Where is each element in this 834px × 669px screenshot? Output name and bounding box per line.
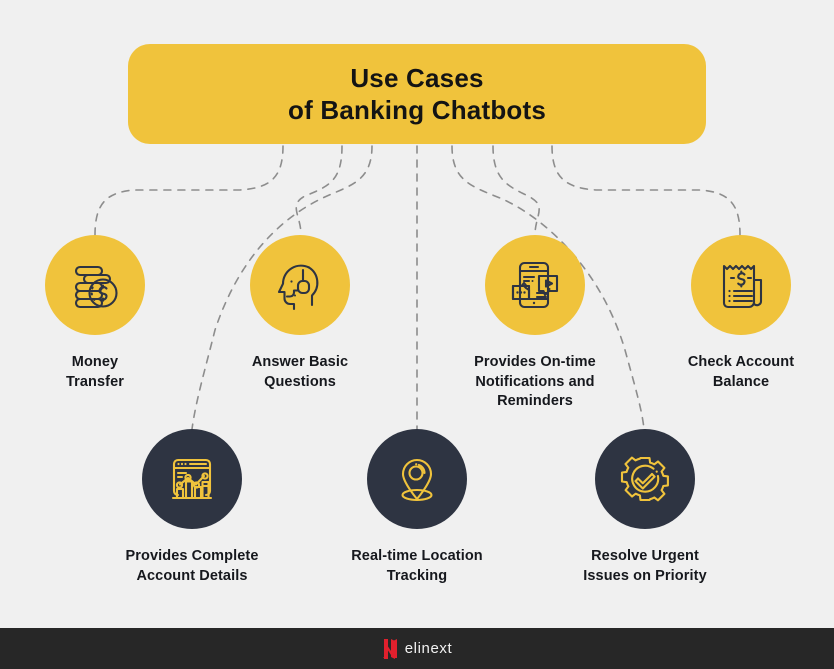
node-on-time-notifications[interactable]: Provides On-time Notifications and Remin… — [455, 235, 615, 412]
node-label-check-balance: Check Account Balance — [688, 353, 794, 392]
node-account-details[interactable]: Provides Complete Account Details — [117, 429, 267, 586]
elinext-n-mark-icon — [382, 638, 398, 660]
receipt-dollar-icon — [714, 258, 768, 312]
infographic-canvas: Use Cases of Banking Chatbots Money Tran… — [0, 0, 834, 669]
footer-bar: elinext — [0, 628, 834, 669]
node-label-money-transfer: Money Transfer — [66, 353, 124, 392]
icon-bubble-check-balance — [691, 235, 791, 335]
map-pin-icon — [389, 451, 445, 507]
icon-bubble-location-tracking — [367, 429, 467, 529]
node-resolve-urgent-issues[interactable]: Resolve Urgent Issues on Priority — [569, 429, 721, 586]
connector-money — [95, 146, 283, 235]
node-label-notifications: Provides On-time Notifications and Remin… — [474, 353, 596, 412]
footer-logo-text: elinext — [405, 640, 453, 657]
title-line-1: Use Cases — [288, 62, 546, 95]
analytics-dashboard-icon — [164, 451, 220, 507]
node-label-answer-basic: Answer Basic Questions — [252, 353, 348, 392]
node-check-account-balance[interactable]: Check Account Balance — [665, 235, 817, 392]
phone-chat-media-icon — [507, 257, 563, 313]
gear-check-icon — [617, 451, 673, 507]
node-answer-basic-questions[interactable]: Answer Basic Questions — [225, 235, 375, 392]
connector-answer — [296, 146, 342, 235]
coins-dollar-icon — [67, 257, 123, 313]
icon-bubble-money-transfer — [45, 235, 145, 335]
node-money-transfer[interactable]: Money Transfer — [20, 235, 170, 392]
node-label-account-details: Provides Complete Account Details — [125, 547, 258, 586]
icon-bubble-answer-basic — [250, 235, 350, 335]
connector-balance — [552, 146, 740, 235]
node-label-resolve-urgent: Resolve Urgent Issues on Priority — [583, 547, 706, 586]
connector-notifications — [493, 146, 539, 235]
icon-bubble-notifications — [485, 235, 585, 335]
title-card: Use Cases of Banking Chatbots — [128, 44, 706, 144]
icon-bubble-account-details — [142, 429, 242, 529]
node-label-location-tracking: Real-time Location Tracking — [351, 547, 483, 586]
title-line-2: of Banking Chatbots — [288, 94, 546, 127]
node-location-tracking[interactable]: Real-time Location Tracking — [342, 429, 492, 586]
headset-support-icon — [273, 258, 327, 312]
icon-bubble-resolve-urgent — [595, 429, 695, 529]
